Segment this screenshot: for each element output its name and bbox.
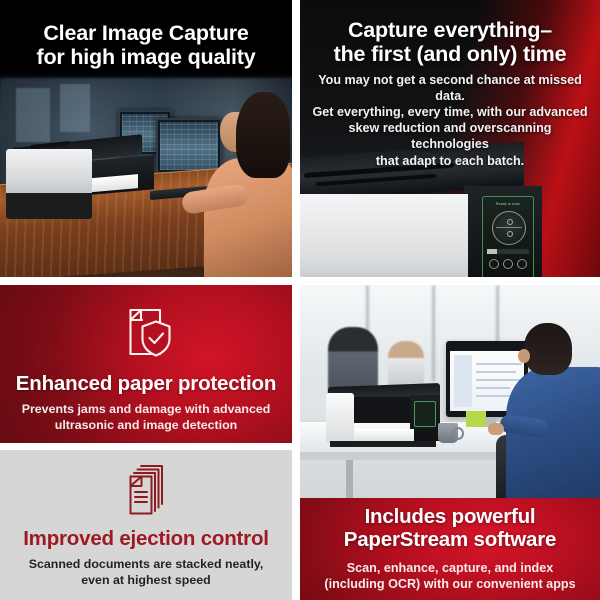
person-seated bbox=[200, 92, 292, 277]
stacked-documents-icon bbox=[0, 460, 292, 522]
panel4-heading: Improved ejection control bbox=[0, 528, 292, 551]
panel5-body-line2: (including OCR) with our convenient apps bbox=[324, 577, 575, 591]
panel5-heading: Includes powerful PaperStream software bbox=[300, 506, 600, 552]
panel4-body: Scanned documents are stacked neatly, ev… bbox=[0, 557, 292, 589]
panel3-body-line1: Prevents jams and damage with advanced bbox=[22, 402, 271, 416]
scanner-closeup: Ready to scan bbox=[300, 150, 536, 277]
office-workers-photo bbox=[300, 285, 600, 498]
panel2-body: You may not get a second chance at misse… bbox=[300, 72, 600, 169]
power-icon[interactable] bbox=[489, 259, 499, 269]
green-folder bbox=[466, 411, 486, 427]
panel4-body-line1: Scanned documents are stacked neatly, bbox=[29, 557, 264, 571]
panel2-heading-line1: Capture everything– bbox=[348, 18, 552, 42]
window-pane bbox=[16, 88, 50, 142]
feature-grid: Clear Image Capture for high image quali… bbox=[0, 0, 600, 600]
panel2-heading-line2: the first (and only) time bbox=[334, 42, 567, 66]
panel5-heading-line2: PaperStream software bbox=[344, 528, 556, 551]
desk-leg bbox=[346, 460, 353, 498]
scanner-lcd bbox=[414, 401, 436, 427]
info-icon[interactable] bbox=[503, 259, 513, 269]
panel2-body-line4: that adapt to each batch. bbox=[376, 154, 524, 168]
panel2-body-line2: Get everything, every time, with our adv… bbox=[312, 105, 587, 119]
lcd-status-text: Ready to scan bbox=[483, 202, 533, 206]
panel-ejection-control: Improved ejection control Scanned docume… bbox=[0, 450, 292, 600]
panel3-body: Prevents jams and damage with advanced u… bbox=[0, 402, 292, 434]
window-pane bbox=[60, 84, 90, 132]
panel-paperstream-software: Includes powerful PaperStream software S… bbox=[300, 285, 600, 600]
lcd-dial[interactable] bbox=[492, 211, 526, 245]
panel5-body-line1: Scan, enhance, capture, and index bbox=[347, 561, 553, 575]
panel1-heading-line1: Clear Image Capture bbox=[43, 21, 248, 45]
panel5-body: Scan, enhance, capture, and index (inclu… bbox=[300, 560, 600, 592]
panel2-body-line3: skew reduction and overscanning technolo… bbox=[349, 121, 552, 151]
panel2-body-line1: You may not get a second chance at misse… bbox=[318, 73, 582, 103]
desk-side bbox=[300, 452, 510, 460]
lcd-button-row[interactable] bbox=[487, 259, 529, 269]
document-scanner bbox=[6, 141, 154, 219]
lcd-progress-bar bbox=[487, 249, 529, 254]
document-shield-check-icon bbox=[0, 303, 292, 365]
gear-icon[interactable] bbox=[517, 259, 527, 269]
scanner-control-panel[interactable]: Ready to scan bbox=[482, 196, 534, 277]
coffee-mug bbox=[438, 423, 458, 443]
panel3-heading: Enhanced paper protection bbox=[0, 373, 292, 396]
panel-capture-everything: Ready to scan Capture everything– the fi… bbox=[300, 0, 600, 277]
panel2-heading: Capture everything– the first (and only)… bbox=[300, 18, 600, 66]
panel5-heading-line1: Includes powerful bbox=[365, 505, 536, 528]
panel-paper-protection: Enhanced paper protection Prevents jams … bbox=[0, 285, 292, 443]
panel3-body-line2: ultrasonic and image detection bbox=[55, 418, 237, 432]
panel4-body-line2: even at highest speed bbox=[81, 573, 210, 587]
panel-clear-image-capture: Clear Image Capture for high image quali… bbox=[0, 0, 292, 277]
person-at-computer bbox=[514, 323, 600, 499]
desktop-scanner bbox=[326, 385, 444, 447]
panel1-heading: Clear Image Capture for high image quali… bbox=[0, 21, 292, 69]
panel1-heading-line2: for high image quality bbox=[37, 45, 256, 69]
